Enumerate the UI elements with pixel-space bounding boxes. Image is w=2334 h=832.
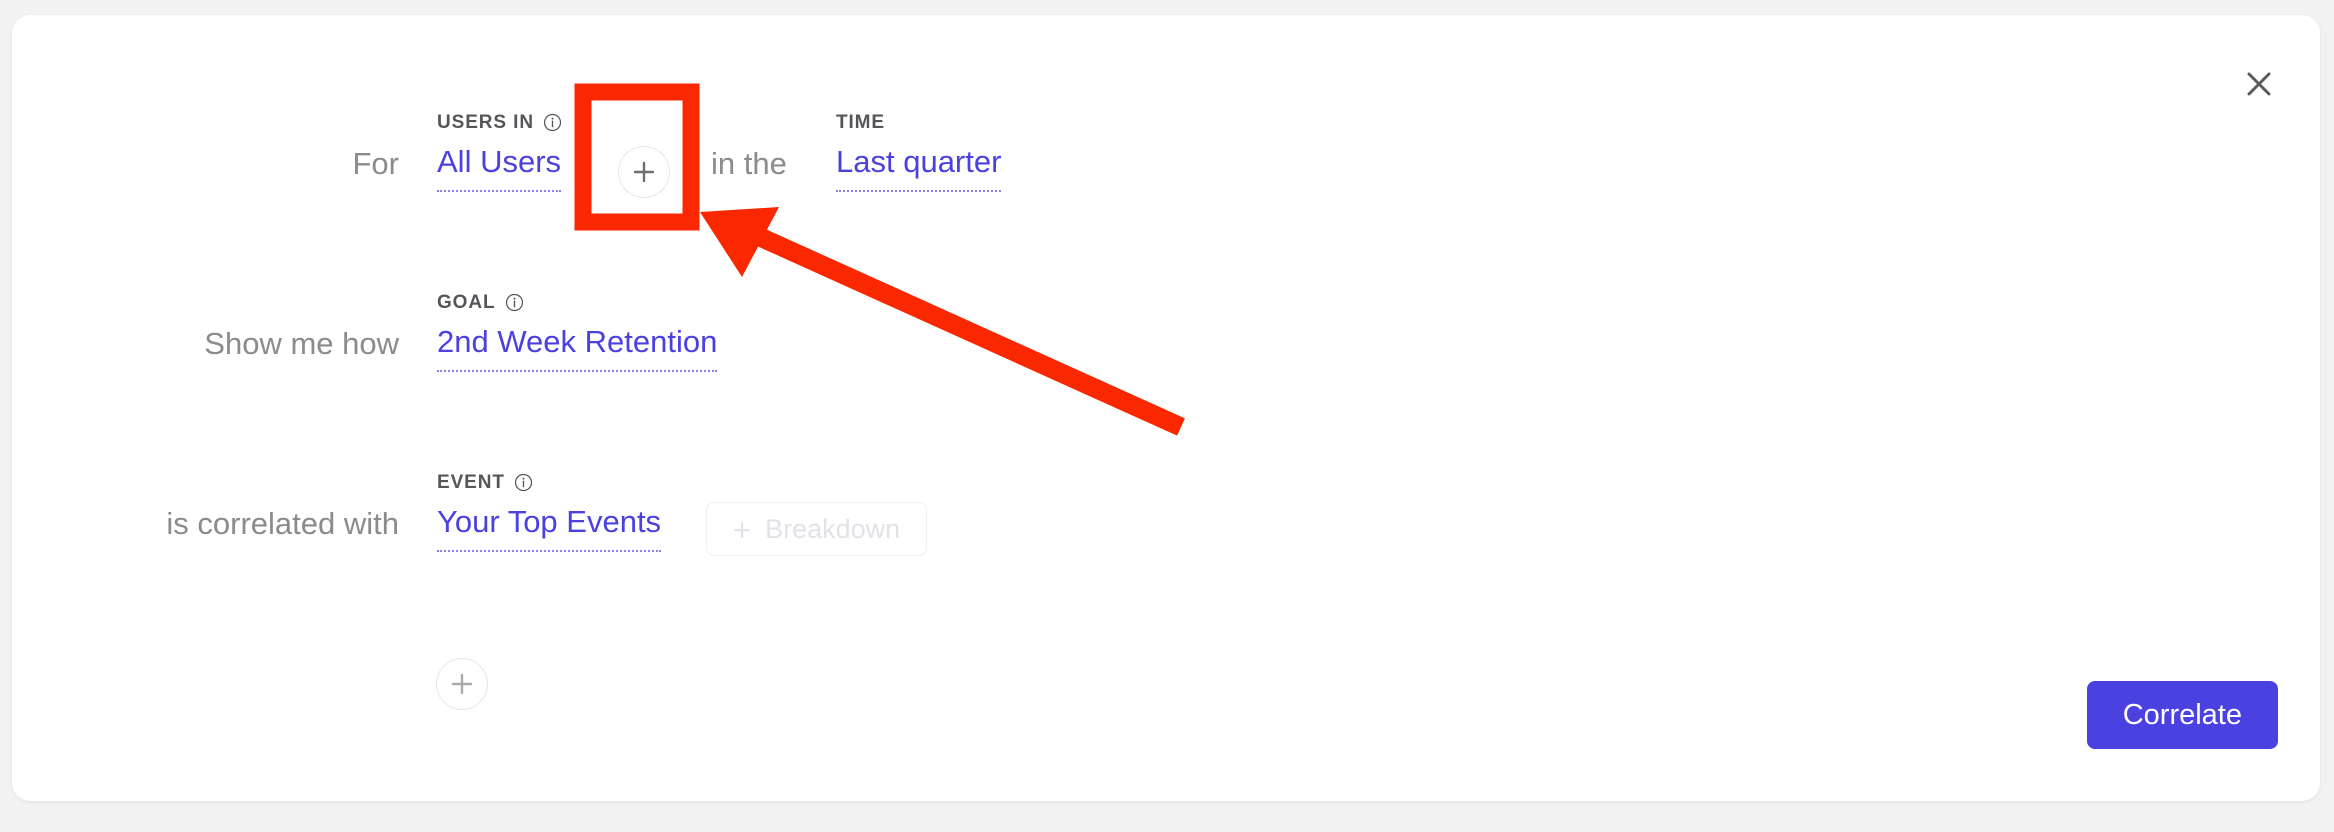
correlate-button[interactable]: Correlate	[2087, 681, 2278, 749]
row-phrase-is-correlated-with: is correlated with	[0, 505, 399, 543]
field-label-users-in: USERS IN	[437, 113, 562, 132]
plus-icon	[631, 159, 657, 185]
info-icon[interactable]	[514, 473, 533, 492]
breakdown-label: Breakdown	[765, 514, 900, 545]
screen-root: For USERS IN All Users	[0, 0, 2334, 832]
field-event: EVENT Your Top Events	[437, 473, 661, 552]
field-goal: GOAL 2nd Week Retention	[437, 293, 717, 372]
correlation-query-card: For USERS IN All Users	[12, 15, 2320, 801]
field-label-goal: GOAL	[437, 293, 717, 312]
row-phrase-for: For	[0, 145, 399, 183]
info-icon[interactable]	[543, 113, 562, 132]
field-label-event: EVENT	[437, 473, 661, 492]
row-phrase-show-me-how: Show me how	[0, 325, 399, 363]
add-query-row-button[interactable]	[436, 658, 488, 710]
plus-icon-circle[interactable]	[436, 658, 488, 710]
add-users-filter-button[interactable]	[618, 146, 670, 198]
close-button[interactable]	[2236, 61, 2282, 107]
close-icon	[2244, 69, 2274, 99]
add-breakdown-button[interactable]: + Breakdown	[706, 502, 927, 556]
row-phrase-in-the: in the	[711, 145, 787, 183]
plus-icon	[449, 671, 475, 697]
field-value-last-quarter[interactable]: Last quarter	[836, 143, 1001, 192]
field-label-time: TIME	[836, 113, 1001, 132]
field-time: TIME Last quarter	[836, 113, 1001, 192]
plus-icon-circle[interactable]	[618, 146, 670, 198]
field-users-in: USERS IN All Users	[437, 113, 562, 192]
info-icon[interactable]	[505, 293, 524, 312]
field-value-all-users[interactable]: All Users	[437, 143, 561, 192]
plus-icon: +	[733, 514, 751, 545]
field-value-goal[interactable]: 2nd Week Retention	[437, 323, 717, 372]
field-value-your-top-events[interactable]: Your Top Events	[437, 503, 661, 552]
